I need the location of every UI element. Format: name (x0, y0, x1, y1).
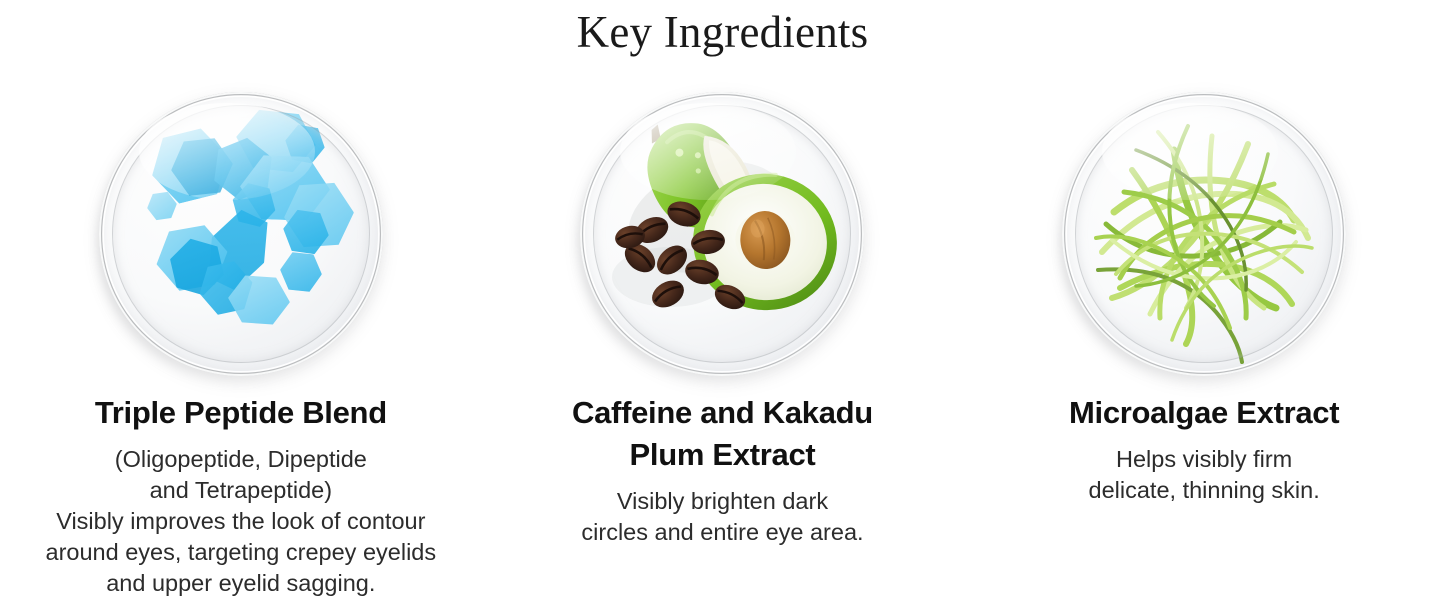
plum-and-coffee-illustration (580, 92, 864, 376)
dish-glass (1062, 92, 1346, 376)
ingredient-title: Triple Peptide Blend (95, 392, 387, 434)
ingredient-column-caffeine-kakadu-plum-extract: Caffeine and Kakadu Plum Extract Visibly… (482, 88, 964, 548)
dish-content-plum-and-beans (580, 92, 864, 376)
petri-dish-blue-hexagons (91, 88, 391, 376)
ingredient-description: (Oligopeptide, Dipeptide and Tetrapeptid… (46, 444, 437, 599)
algae-strands-illustration (1062, 92, 1346, 376)
petri-dish-kakadu-plum-coffee-beans (572, 88, 872, 376)
dish-content-hexagons (99, 92, 383, 376)
dish-glass (99, 92, 383, 376)
ingredient-column-microalgae-extract: Microalgae Extract Helps visibly firm de… (963, 88, 1445, 506)
ingredient-column-triple-peptide-blend: Triple Peptide Blend (Oligopeptide, Dipe… (0, 88, 482, 599)
page-title: Key Ingredients (0, 0, 1445, 55)
ingredient-description: Helps visibly firm delicate, thinning sk… (1089, 444, 1320, 506)
ingredient-title: Caffeine and Kakadu Plum Extract (572, 392, 873, 476)
ingredient-columns: Triple Peptide Blend (Oligopeptide, Dipe… (0, 88, 1445, 599)
petri-dish-microalgae-strands (1054, 88, 1354, 376)
ingredient-title: Microalgae Extract (1069, 392, 1339, 434)
dish-content-algae (1062, 92, 1346, 376)
hexagon-icon (278, 250, 324, 294)
dish-glass (580, 92, 864, 376)
ingredient-description: Visibly brighten dark circles and entire… (581, 486, 863, 548)
